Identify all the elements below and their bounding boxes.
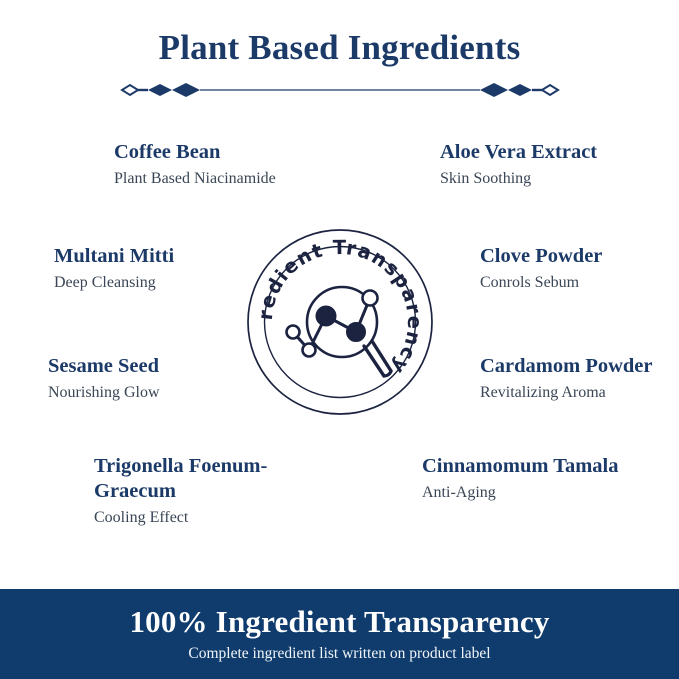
ingredients-infographic: Plant Based Ingredients [0,0,679,679]
ingredient-item-sesame-seed: Sesame Seed Nourishing Glow [48,354,248,403]
ingredient-name: Cardamom Powder [480,354,679,379]
ingredient-item-cardamom-powder: Cardamom Powder Revitalizing Aroma [480,354,679,403]
banner-subtitle: Complete ingredient list written on prod… [0,644,679,663]
ingredient-benefit: Deep Cleansing [54,272,254,293]
ingredient-benefit: Anti-Aging [422,482,662,503]
header: Plant Based Ingredients [0,0,679,103]
ingredient-name: Trigonella Foenum-Graecum [94,454,284,504]
ingredient-name: Coffee Bean [114,140,294,165]
ingredient-item-clove-powder: Clove Powder Conrols Sebum [480,244,679,293]
ingredient-name: Cinnamomum Tamala [422,454,662,479]
ingredient-benefit: Plant Based Niacinamide [114,168,294,189]
ingredient-benefit: Cooling Effect [94,507,284,528]
ingredient-name: Sesame Seed [48,354,248,379]
ingredient-benefit: Nourishing Glow [48,382,248,403]
ingredient-item-trigonella-foenum-graecum: Trigonella Foenum-Graecum Cooling Effect [94,454,284,528]
ingredient-benefit: Skin Soothing [440,168,655,189]
ingredient-name: Clove Powder [480,244,679,269]
ingredient-transparency-badge: Ingredient Transparency [246,228,434,416]
ornamental-diamond-divider-icon [120,77,560,103]
ingredient-item-cinnamomum-tamala: Cinnamomum Tamala Anti-Aging [422,454,662,503]
transparency-banner: 100% Ingredient Transparency Complete in… [0,589,679,679]
ingredient-name: Aloe Vera Extract [440,140,655,165]
banner-title: 100% Ingredient Transparency [0,589,679,640]
ingredient-item-aloe-vera-extract: Aloe Vera Extract Skin Soothing [440,140,655,189]
ingredient-benefit: Conrols Sebum [480,272,679,293]
ingredient-benefit: Revitalizing Aroma [480,382,679,403]
ingredient-name: Multani Mitti [54,244,254,269]
ingredient-item-coffee-bean: Coffee Bean Plant Based Niacinamide [114,140,294,189]
page-title: Plant Based Ingredients [0,0,679,68]
ingredient-item-multani-mitti: Multani Mitti Deep Cleansing [54,244,254,293]
